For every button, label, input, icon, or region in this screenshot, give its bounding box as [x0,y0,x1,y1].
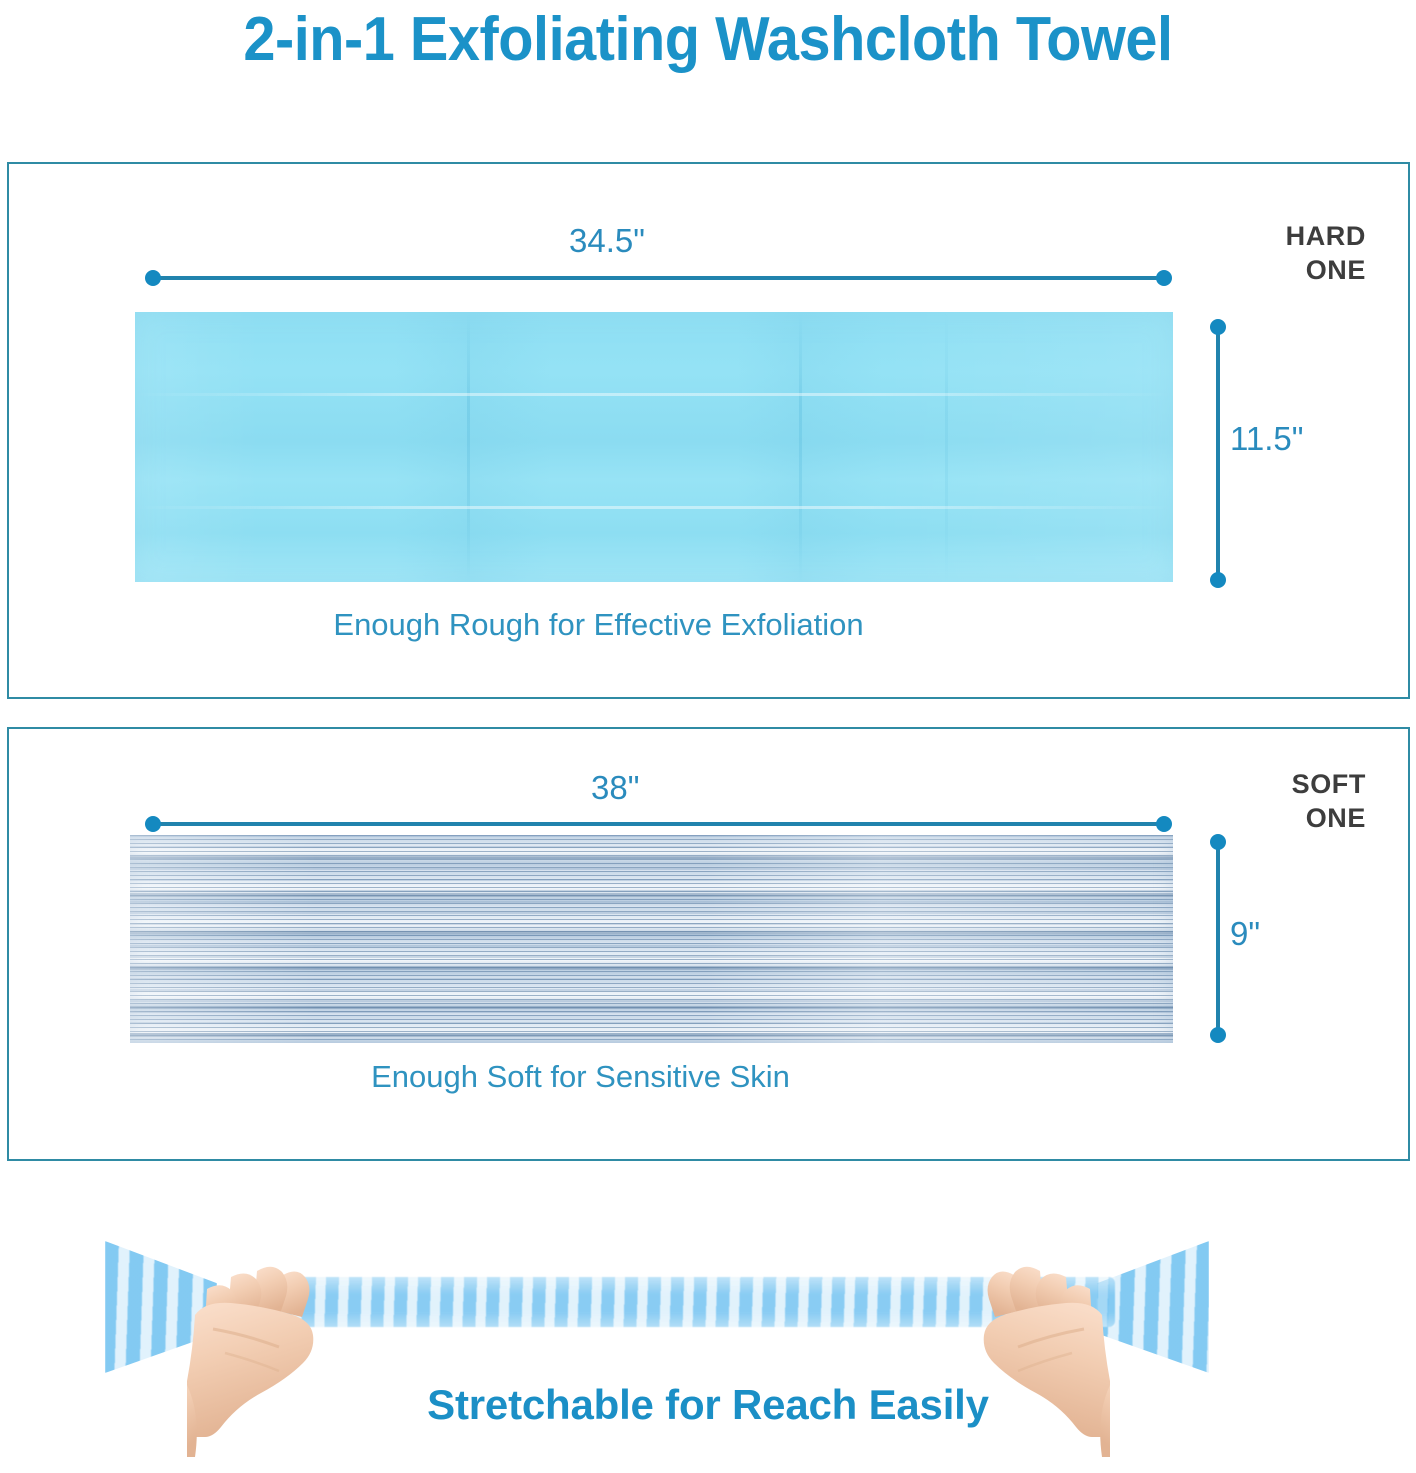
caption-soft-one: Enough Soft for Sensitive Skin [0,1059,1280,1095]
panel-soft-one: SOFT ONE 38" 9" Enough Soft for Sensitiv… [7,727,1410,1161]
height-dimension-line-soft [1216,838,1220,1039]
hard-towel-swatch [135,312,1173,582]
panel-hard-one: HARD ONE 34.5" 11.5" Enough Rough for Ef… [7,162,1410,699]
corner-label-hard-one: HARD ONE [1286,219,1366,287]
stretch-illustration [75,1215,1225,1400]
fabric-crease [945,312,948,582]
height-dimension-label-hard: 11.5" [1230,420,1304,458]
hero-caption: Stretchable for Reach Easily [0,1381,1416,1429]
page-title: 2-in-1 Exfoliating Washcloth Towel [50,4,1367,75]
width-dimension-label-soft: 38" [591,769,639,807]
fabric-crease [799,312,802,582]
corner-label-soft-one: SOFT ONE [1292,767,1366,835]
height-dimension-line-hard [1216,323,1220,584]
fabric-sheen [130,835,1173,1043]
width-dimension-line-hard [149,276,1168,280]
height-dimension-label-soft: 9" [1230,915,1260,953]
soft-towel-swatch [130,835,1173,1043]
fabric-crease [135,506,1173,509]
fabric-crease [135,393,1173,396]
width-dimension-line-soft [149,822,1168,826]
hero-stretch-section: Stretchable for Reach Easily [0,1185,1416,1473]
caption-hard-one: Enough Rough for Effective Exfoliation [0,607,1298,643]
width-dimension-label-hard: 34.5" [569,222,645,260]
fabric-crease [467,312,470,582]
